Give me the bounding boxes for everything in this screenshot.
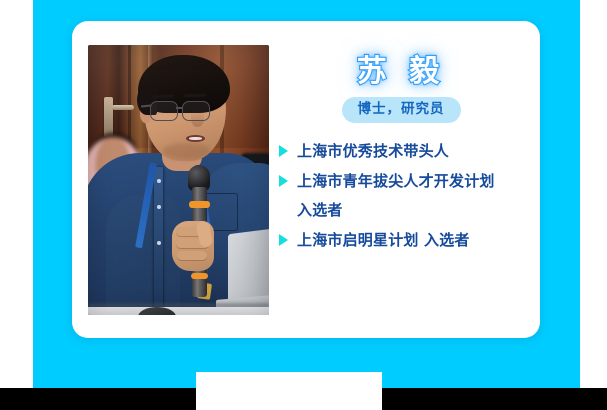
profile-content: 苏 毅 博士，研究员 上海市优秀技术带头人 上海市青年拔尖人才开发计划 入选者 (277, 45, 525, 317)
shirt-button-top (157, 179, 161, 183)
bottom-letterbox-notch (196, 372, 382, 410)
list-item: 上海市优秀技术带头人 (279, 140, 525, 163)
person-name: 苏 毅 (357, 55, 445, 88)
eyeglasses-left-lens (150, 101, 178, 121)
speaker-photo (88, 45, 269, 315)
eyeglasses-bridge (176, 107, 182, 109)
profile-card: 苏 毅 博士，研究员 上海市优秀技术带头人 上海市青年拔尖人才开发计划 入选者 (72, 21, 540, 338)
desk-surface (88, 307, 269, 315)
screenshot-stage: 苏 毅 博士，研究员 上海市优秀技术带头人 上海市青年拔尖人才开发计划 入选者 (0, 0, 607, 410)
door-handle (112, 105, 134, 110)
title-row: 博士，研究员 (277, 97, 525, 123)
achievement-text: 上海市启明星计划 入选者 (297, 229, 470, 252)
list-item: 上海市启明星计划 入选者 (279, 229, 525, 252)
finger-ring (177, 251, 207, 260)
subject-nose (191, 111, 204, 127)
achievement-text: 上海市优秀技术带头人 (297, 140, 449, 163)
triangle-right-icon (279, 234, 288, 246)
microphone-ring-lower (191, 273, 208, 279)
microphone-ring-upper (189, 201, 210, 208)
achievement-text: 入选者 (297, 199, 343, 222)
achievement-text: 上海市青年拔尖人才开发计划 (297, 170, 495, 193)
list-item-continuation: 入选者 (279, 199, 525, 222)
name-row: 苏 毅 (277, 45, 525, 88)
shirt-button-bottom (157, 241, 161, 245)
list-item: 上海市青年拔尖人才开发计划 (279, 170, 525, 193)
photo-inner (88, 45, 269, 315)
door-lock-plate (104, 97, 113, 137)
title-badge: 博士，研究员 (342, 97, 461, 123)
triangle-right-icon (279, 145, 288, 157)
shirt-button-middle (157, 205, 161, 209)
triangle-right-icon (279, 175, 288, 187)
achievements-list: 上海市优秀技术带头人 上海市青年拔尖人才开发计划 入选者 上海市启明星计划 入选… (277, 140, 525, 252)
chin-shading (162, 143, 210, 159)
subject-teeth (189, 137, 202, 140)
